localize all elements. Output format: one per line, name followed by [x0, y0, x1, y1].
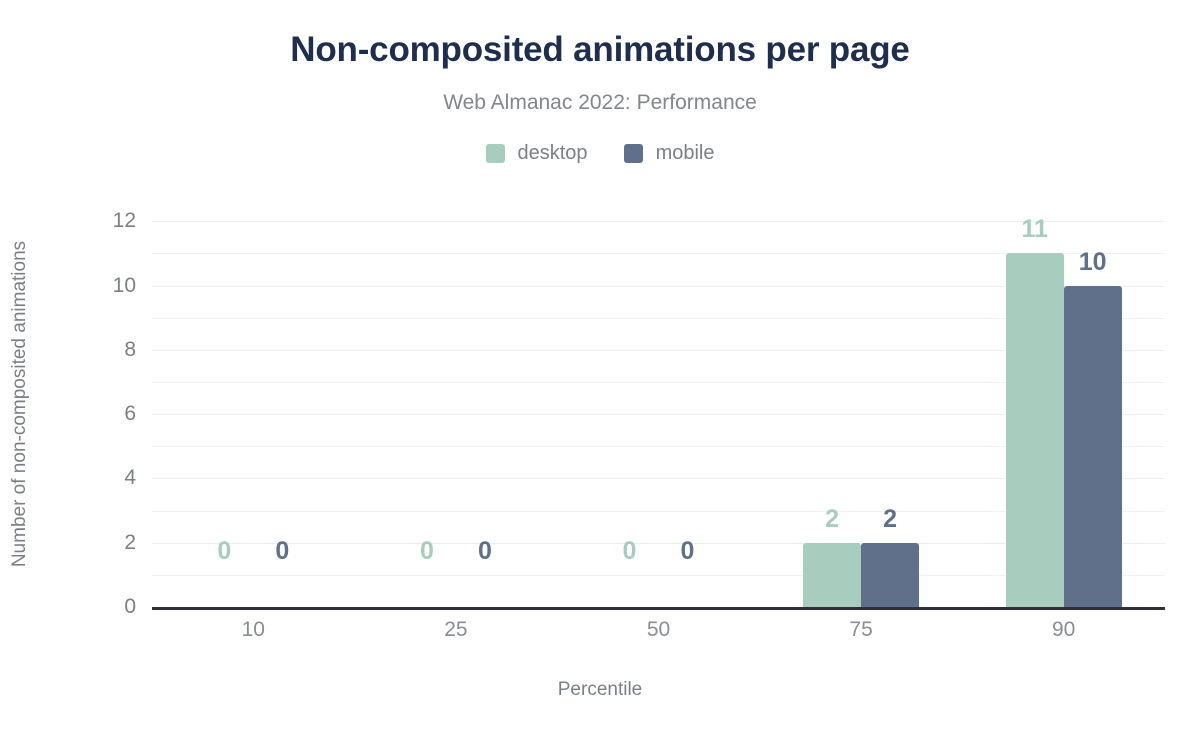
- y-axis-tick-label: 8: [76, 338, 136, 362]
- x-axis-tick-label: 10: [242, 618, 265, 642]
- legend-item-desktop[interactable]: desktop: [486, 143, 588, 163]
- y-axis-tick-label: 2: [76, 531, 136, 555]
- bar-value-label-mobile-25: 0: [478, 537, 492, 566]
- x-axis-title: Percentile: [0, 679, 1200, 701]
- bar-value-label-desktop-90: 11: [1021, 215, 1047, 244]
- chart-subtitle: Web Almanac 2022: Performance: [0, 91, 1200, 115]
- bar-value-label-desktop-50: 0: [623, 537, 637, 566]
- y-axis-tick-label: 0: [76, 595, 136, 619]
- chart-container: Non-composited animations per page Web A…: [0, 0, 1200, 742]
- x-axis-tick-label: 50: [647, 618, 670, 642]
- y-axis-tick-label: 10: [76, 274, 136, 298]
- x-axis-tick-label: 75: [849, 618, 872, 642]
- legend-swatch-mobile: [624, 144, 643, 163]
- bar-value-label-desktop-10: 0: [217, 537, 231, 566]
- gridline: [152, 221, 1165, 222]
- bar-mobile-90[interactable]: [1064, 286, 1122, 607]
- y-axis-tick-label: 4: [76, 466, 136, 490]
- bar-desktop-75[interactable]: [803, 543, 861, 607]
- plot-area: [152, 202, 1165, 607]
- legend-label-desktop: desktop: [518, 143, 588, 163]
- bar-value-label-mobile-75: 2: [883, 505, 897, 534]
- y-axis-title: Number of non-composited animations: [9, 241, 31, 567]
- legend-swatch-desktop: [486, 144, 505, 163]
- x-axis-tick-label: 25: [444, 618, 467, 642]
- bar-value-label-mobile-50: 0: [681, 537, 695, 566]
- bar-value-label-desktop-25: 0: [420, 537, 434, 566]
- bar-value-label-desktop-75: 2: [825, 505, 839, 534]
- chart-title: Non-composited animations per page: [0, 30, 1200, 70]
- bar-mobile-75[interactable]: [861, 543, 919, 607]
- bar-desktop-90[interactable]: [1006, 253, 1064, 607]
- x-axis-line: [152, 607, 1165, 610]
- legend-item-mobile[interactable]: mobile: [624, 143, 715, 163]
- legend-label-mobile: mobile: [656, 143, 715, 163]
- x-axis-tick-label: 90: [1052, 618, 1075, 642]
- chart-legend: desktop mobile: [0, 143, 1200, 163]
- y-axis-tick-label: 12: [76, 209, 136, 233]
- y-axis-tick-label: 6: [76, 402, 136, 426]
- bar-value-label-mobile-10: 0: [275, 537, 289, 566]
- bar-value-label-mobile-90: 10: [1079, 248, 1107, 277]
